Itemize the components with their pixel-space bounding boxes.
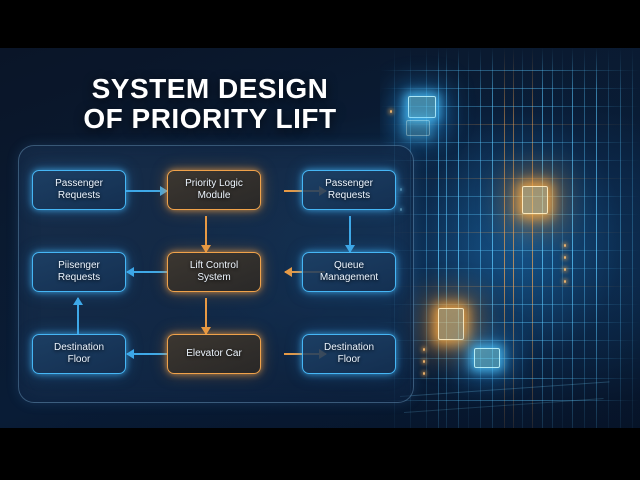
building-vline bbox=[584, 48, 585, 428]
node-label: Destination Floor bbox=[324, 342, 374, 366]
node-priority-logic-module[interactable]: Priority Logic Module bbox=[167, 170, 261, 210]
node-label-line2: Requests bbox=[58, 190, 100, 201]
diagram-panel: Passenger Requests Priority Logic Module… bbox=[18, 145, 414, 403]
node-label-line1: Destination bbox=[324, 342, 374, 353]
page-title: SYSTEM DESIGN OF PRIORITY LIFT bbox=[0, 74, 420, 134]
building-vline bbox=[468, 48, 469, 428]
building-light-dot bbox=[564, 268, 566, 271]
building-vline bbox=[492, 48, 493, 428]
building-vline bbox=[596, 48, 597, 428]
video-frame: SYSTEM DESIGN OF PRIORITY LIFT Passenger… bbox=[0, 48, 640, 428]
building-vline bbox=[608, 48, 609, 428]
node-label-line1: Passenger bbox=[55, 178, 103, 189]
building-floor-line bbox=[380, 340, 640, 341]
node-label-line2: Floor bbox=[68, 354, 91, 365]
building-floor-line bbox=[380, 378, 640, 379]
building-vline bbox=[552, 48, 553, 428]
screenshot-stage: SYSTEM DESIGN OF PRIORITY LIFT Passenger… bbox=[0, 0, 640, 480]
node-passenger-requests-top-right[interactable]: Passenger Requests bbox=[302, 170, 396, 210]
building-vline bbox=[572, 48, 573, 428]
node-label-line2: Management bbox=[320, 272, 378, 283]
node-label-line2: System bbox=[197, 272, 230, 283]
building-floor-line bbox=[380, 160, 640, 161]
building-floor-line bbox=[380, 70, 640, 71]
building-light-dot bbox=[564, 280, 566, 283]
building-vline bbox=[438, 48, 439, 428]
title-line-2: OF PRIORITY LIFT bbox=[0, 104, 420, 134]
title-line-1: SYSTEM DESIGN bbox=[92, 73, 329, 104]
letterbox-bar-top bbox=[0, 0, 640, 48]
node-label: Destination Floor bbox=[54, 342, 104, 366]
node-label: Lift Control System bbox=[190, 260, 238, 284]
building-vline bbox=[542, 48, 543, 428]
node-label-line2: Requests bbox=[58, 272, 100, 283]
building-vline bbox=[632, 48, 633, 428]
building-light-dot bbox=[423, 372, 425, 375]
node-lift-control-system[interactable]: Lift Control System bbox=[167, 252, 261, 292]
node-label: Elevator Car bbox=[186, 348, 242, 360]
node-passenger-requests-top-left[interactable]: Passenger Requests bbox=[32, 170, 126, 210]
building-vline bbox=[480, 48, 481, 428]
node-queue-management[interactable]: Queue Management bbox=[302, 252, 396, 292]
node-label-line1: Queue bbox=[334, 260, 364, 271]
elevator-car-blue-lower bbox=[474, 348, 500, 368]
letterbox-bar-bottom bbox=[0, 428, 640, 480]
node-label: Piisenger Requests bbox=[58, 260, 100, 284]
building-floor-line bbox=[380, 250, 640, 251]
building-floor-line bbox=[380, 268, 640, 269]
building-light-dot bbox=[423, 348, 425, 351]
building-floor-line bbox=[380, 322, 640, 323]
building-floor-line bbox=[380, 142, 640, 143]
building-vline-warm bbox=[504, 48, 505, 428]
building-floor-line bbox=[380, 232, 640, 233]
building-vline bbox=[446, 48, 447, 428]
building-floor-line bbox=[380, 400, 640, 401]
node-label-line2: Requests bbox=[328, 190, 370, 201]
building-light-dot bbox=[423, 360, 425, 363]
node-label-line1: Destination bbox=[54, 342, 104, 353]
elevator-car-orange-upper bbox=[522, 186, 548, 214]
building-floor-line bbox=[380, 178, 640, 179]
node-label-line1: Lift Control bbox=[190, 260, 238, 271]
node-label: Passenger Requests bbox=[55, 178, 103, 202]
building-floor-line bbox=[380, 286, 640, 287]
node-label-line1: Piisenger bbox=[58, 260, 100, 271]
node-label-line1: Priority Logic bbox=[185, 178, 243, 189]
node-label-line2: Module bbox=[198, 190, 231, 201]
building-vline-warm bbox=[532, 48, 533, 428]
node-label-line2: Floor bbox=[338, 354, 361, 365]
building-vline-warm bbox=[513, 48, 514, 428]
building-light-dot bbox=[564, 256, 566, 259]
node-destination-floor-bottom-left[interactable]: Destination Floor bbox=[32, 334, 126, 374]
node-label: Passenger Requests bbox=[325, 178, 373, 202]
building-vline bbox=[458, 48, 459, 428]
building-vline bbox=[522, 48, 523, 428]
elevator-car-orange-lower bbox=[438, 308, 464, 340]
building-light-dot bbox=[564, 244, 566, 247]
node-label: Priority Logic Module bbox=[185, 178, 243, 202]
building-floor-line bbox=[380, 358, 640, 359]
node-destination-floor-bottom-right[interactable]: Destination Floor bbox=[302, 334, 396, 374]
node-piisenger-requests-mid-left[interactable]: Piisenger Requests bbox=[32, 252, 126, 292]
building-vline bbox=[562, 48, 563, 428]
node-label: Queue Management bbox=[320, 260, 378, 284]
node-label-line1: Passenger bbox=[325, 178, 373, 189]
building-floor-line bbox=[380, 196, 640, 197]
building-floor-line bbox=[380, 214, 640, 215]
building-floor-line bbox=[380, 304, 640, 305]
node-elevator-car[interactable]: Elevator Car bbox=[167, 334, 261, 374]
building-vline bbox=[620, 48, 621, 428]
